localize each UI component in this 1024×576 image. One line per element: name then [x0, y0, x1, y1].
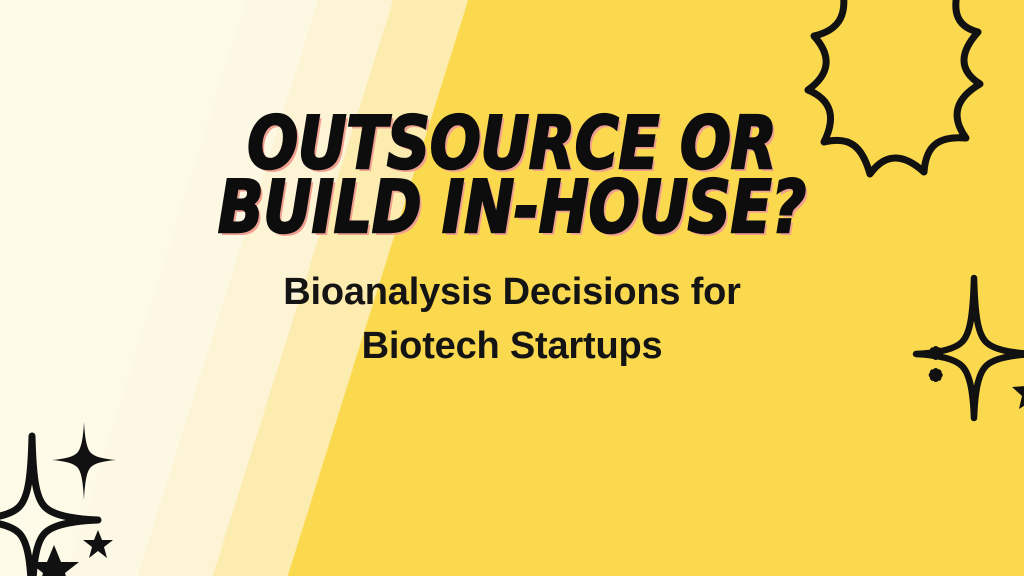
page-subtitle: Bioanalysis Decisions for Biotech Startu… — [0, 266, 1024, 374]
poster-canvas: Outsource or Build In-House? Bioanalysis… — [0, 0, 1024, 576]
subtitle-line-2: Biotech Startups — [0, 320, 1024, 374]
page-title: Outsource or Build In-House? — [41, 110, 983, 240]
subtitle-line-1: Bioanalysis Decisions for — [0, 266, 1024, 320]
poster-content: Outsource or Build In-House? Bioanalysis… — [0, 110, 1024, 374]
title-line-2: Build In-House? — [41, 174, 983, 240]
